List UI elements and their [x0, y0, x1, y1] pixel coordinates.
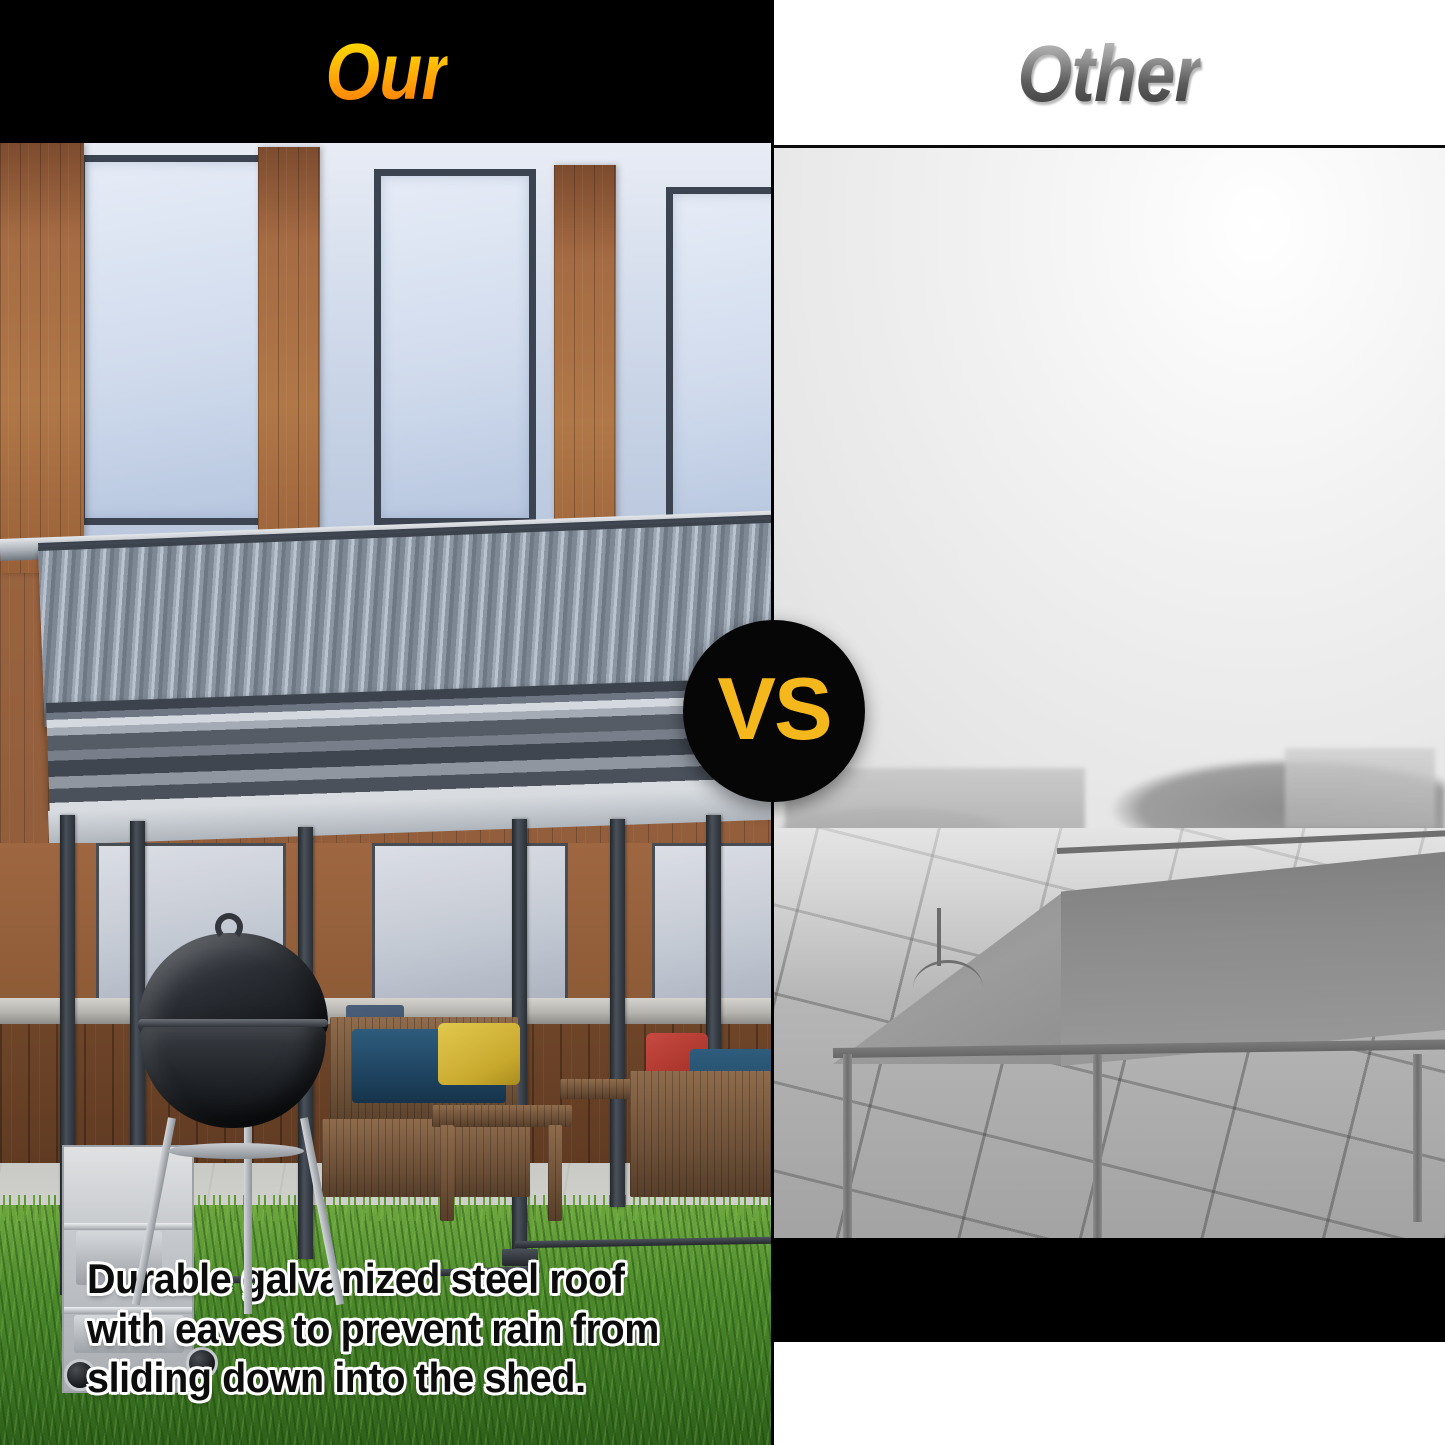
grill-rim-band — [138, 1019, 328, 1027]
our-product-photo: Durable galvanized steel roof with eaves… — [0, 143, 773, 1445]
clerestory-window-band — [0, 143, 773, 553]
window-pane — [666, 187, 773, 527]
grill-ash-tray — [168, 1143, 304, 1159]
canopy-support-pole — [1413, 1054, 1422, 1222]
canopy-support-pole — [843, 1054, 852, 1238]
our-header-label: Our — [325, 32, 448, 112]
canopy-support-pole — [1093, 1054, 1102, 1238]
overcast-sky — [773, 148, 1445, 788]
other-panel: Other — [773, 0, 1445, 1445]
other-header-label: Other — [1017, 34, 1200, 114]
facade-wood-column — [0, 143, 84, 573]
other-header-bar: Other — [773, 0, 1445, 148]
wooden-armchair — [630, 1071, 773, 1197]
comparison-image: Our — [0, 0, 1445, 1445]
glass-door — [372, 843, 568, 1003]
canopy-center-strut — [937, 908, 941, 966]
side-table-leg — [440, 1125, 454, 1221]
facade-wood-column — [258, 147, 320, 577]
side-table-leg — [548, 1125, 562, 1221]
grill-lid-handle — [215, 913, 243, 941]
window-pane — [374, 169, 536, 525]
other-bottom-black-band — [773, 1238, 1445, 1342]
our-caption-text: Durable galvanized steel roof with eaves… — [87, 1254, 689, 1403]
versus-label: VS — [717, 665, 830, 753]
pergola-post — [610, 819, 625, 1207]
other-bottom-white-strip — [773, 1342, 1445, 1445]
distant-building — [1285, 748, 1435, 828]
our-panel: Our — [0, 0, 773, 1445]
cart-shelf — [64, 1223, 192, 1230]
versus-badge: VS — [683, 620, 865, 802]
wooden-side-table — [432, 1105, 572, 1127]
window-pane — [78, 155, 278, 525]
other-product-photo — [773, 148, 1445, 1238]
other-header-divider — [773, 145, 1445, 148]
yellow-throw-pillow — [438, 1023, 520, 1085]
wooden-sofa-seat — [322, 1119, 530, 1197]
our-header-bar: Our — [0, 0, 773, 143]
